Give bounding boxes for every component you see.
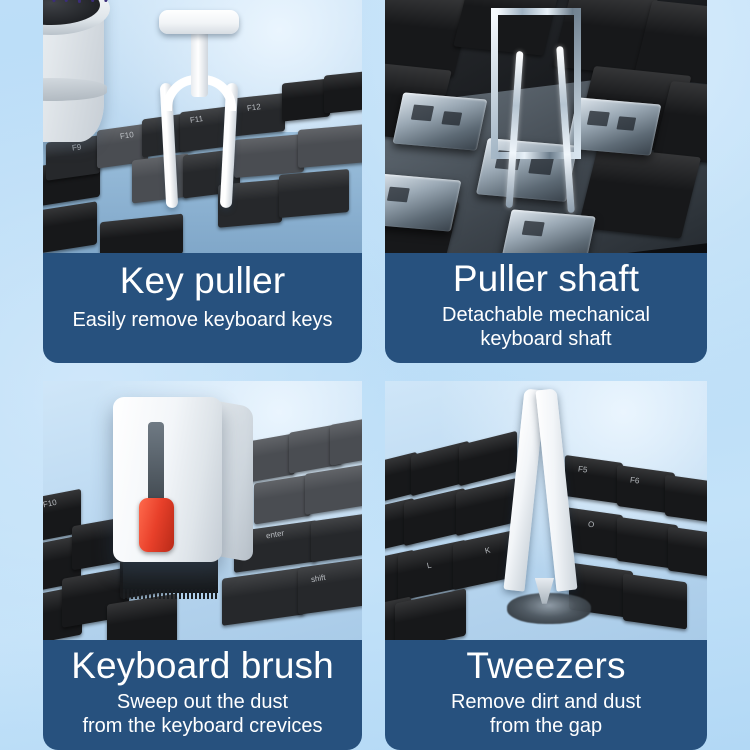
keycap-label: K — [484, 546, 491, 555]
tweezers-image: F5 F6 O K L — [385, 381, 707, 640]
keycap-label: F6 — [629, 476, 639, 485]
puller-shaft-caption: Puller shaft Detachable mechanical keybo… — [385, 253, 707, 363]
feature-card-keyboard-brush[interactable]: F10 enter shift Keyboard brush Sweep out… — [43, 381, 362, 750]
card-subtitle-line: Detachable mechanical — [442, 304, 650, 327]
card-title: Tweezers — [466, 646, 625, 685]
key-puller-image: F9 F10 F11 F12 — [43, 0, 362, 253]
key-puller-tool — [158, 10, 241, 212]
infographic-page: F9 F10 F11 F12 — [0, 0, 750, 750]
keyboard-brush-image: F10 enter shift — [43, 381, 362, 640]
keycap-label: F5 — [578, 466, 588, 475]
card-title: Key puller — [120, 261, 286, 300]
card-subtitle-line: Easily remove keyboard keys — [72, 309, 332, 332]
keycap-label: F10 — [119, 131, 134, 141]
keyboard-brush-caption: Keyboard brush Sweep out the dust from t… — [43, 640, 362, 750]
tweezers-caption: Tweezers Remove dirt and dust from the g… — [385, 640, 707, 750]
keycap-label: O — [587, 521, 594, 530]
card-subtitle-line: from the gap — [490, 715, 602, 738]
card-subtitle-line: from the keyboard crevices — [82, 715, 322, 738]
card-subtitle-line: keyboard shaft — [480, 328, 611, 351]
card-title: Keyboard brush — [71, 646, 334, 685]
card-title: Puller shaft — [453, 259, 639, 298]
key-puller-caption: Key puller Easily remove keyboard keys — [43, 253, 362, 363]
puller-shaft-image — [385, 0, 707, 253]
keycap-label: F9 — [71, 144, 81, 153]
feature-card-tweezers[interactable]: F5 F6 O K L Tweezers Remove dirt and dus… — [385, 381, 707, 750]
feature-card-key-puller[interactable]: F9 F10 F11 F12 — [43, 0, 362, 363]
card-subtitle-line: Sweep out the dust — [117, 691, 288, 714]
card-subtitle-line: Remove dirt and dust — [451, 691, 641, 714]
feature-card-puller-shaft[interactable]: Puller shaft Detachable mechanical keybo… — [385, 0, 707, 363]
keycap-label: F12 — [247, 103, 262, 113]
